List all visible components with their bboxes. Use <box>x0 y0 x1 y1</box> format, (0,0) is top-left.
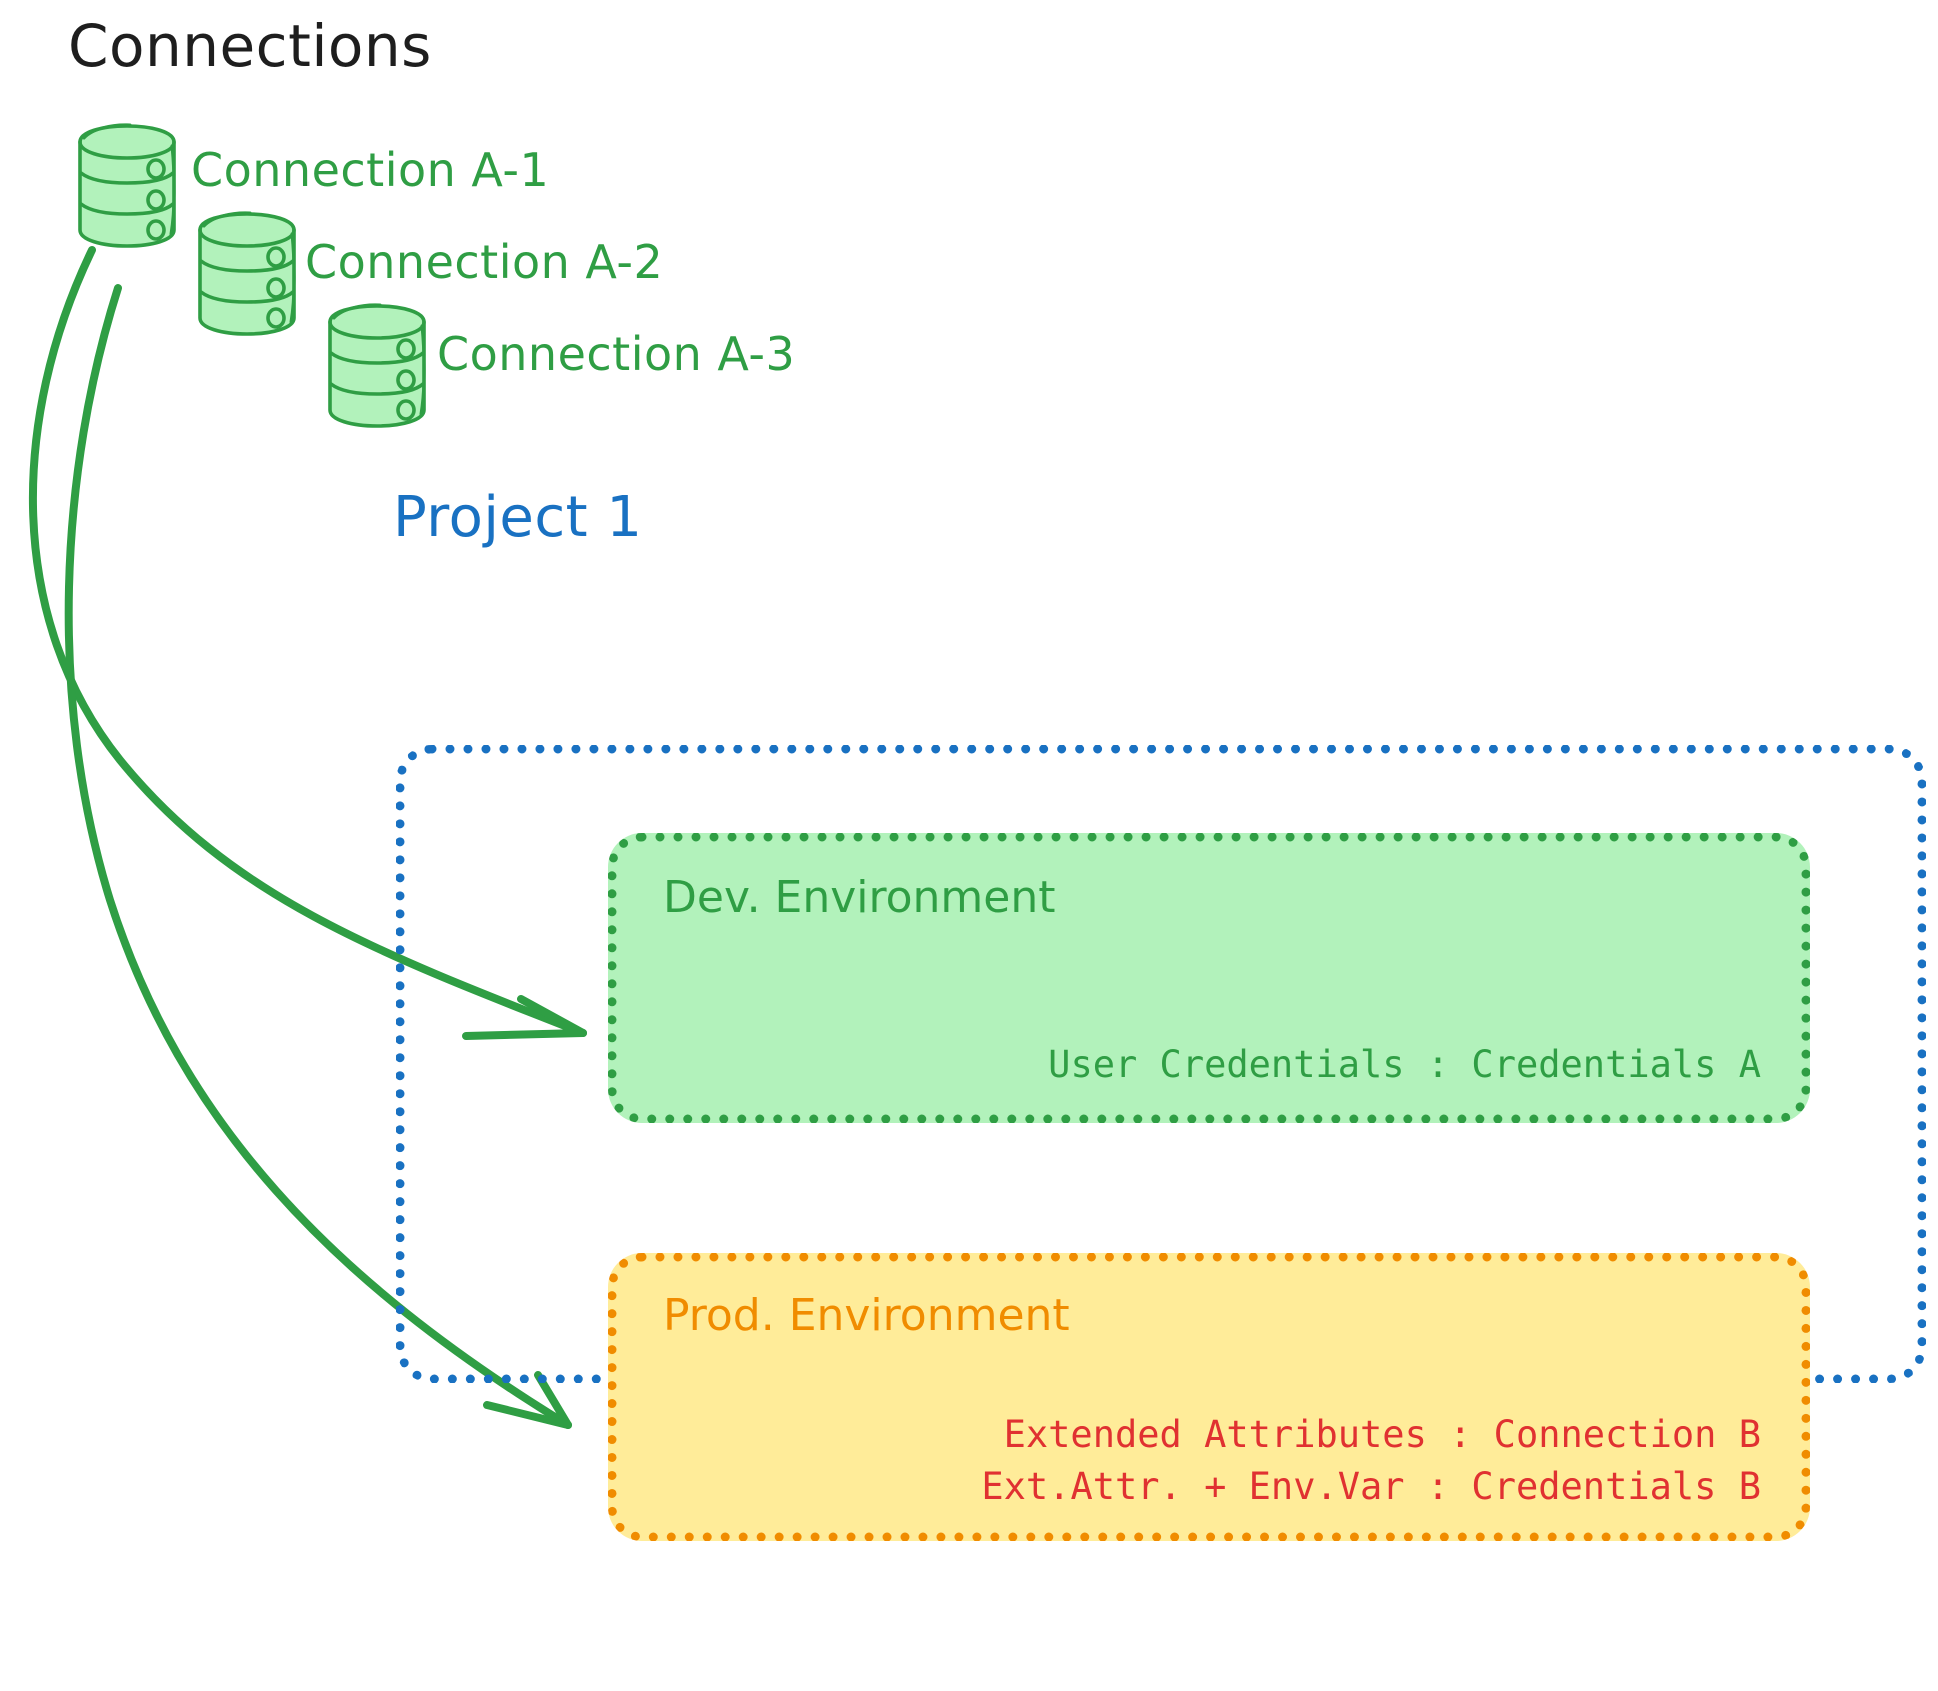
dev-environment-code: User Credentials : Credentials A <box>1048 1039 1761 1092</box>
database-icon[interactable] <box>72 122 182 250</box>
prod-environment-box: Prod. Environment Extended Attributes : … <box>608 1253 1810 1541</box>
prod-environment-code: Extended Attributes : Connection B Ext.A… <box>981 1409 1761 1514</box>
dev-environment-title: Dev. Environment <box>663 872 1056 923</box>
database-icon[interactable] <box>192 210 302 338</box>
database-icon[interactable] <box>322 302 432 430</box>
connection-label-a1: Connection A-1 <box>191 143 549 197</box>
page-title: Connections <box>68 12 432 80</box>
prod-environment-title: Prod. Environment <box>663 1290 1070 1341</box>
connection-label-a2: Connection A-2 <box>305 235 663 289</box>
diagram-canvas: Connections Project 1 <box>0 0 1938 1691</box>
project-title: Project 1 <box>393 485 643 550</box>
dev-environment-box: Dev. Environment User Credentials : Cred… <box>608 833 1810 1123</box>
connection-label-a3: Connection A-3 <box>437 327 795 381</box>
